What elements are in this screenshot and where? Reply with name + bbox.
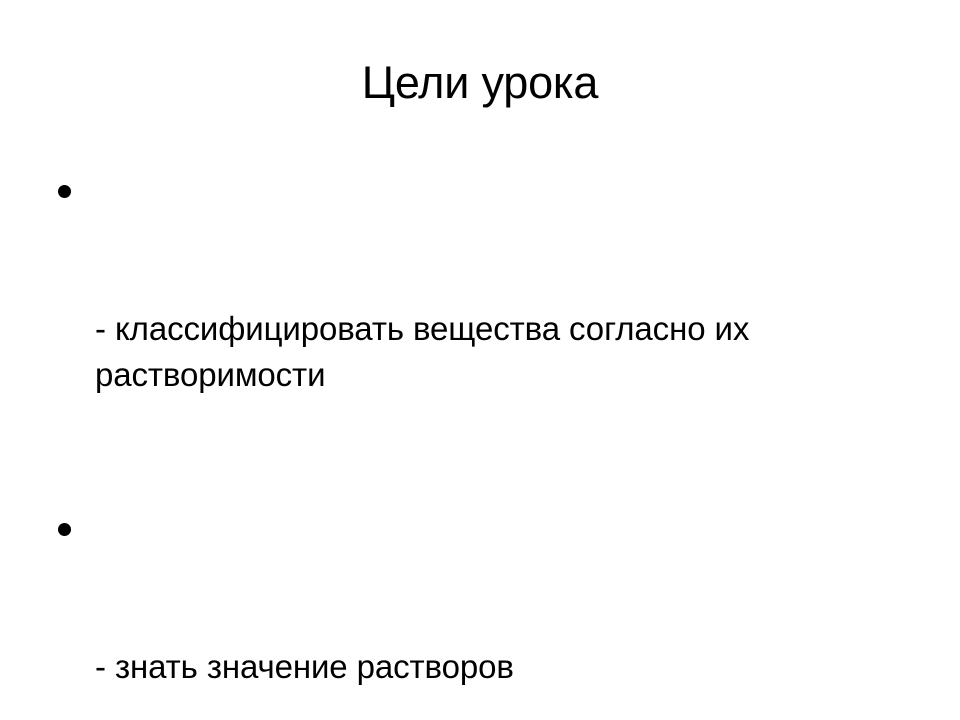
list-item[interactable]: - классифицировать вещества согласно их … [52,168,908,490]
list-item-label: - знать значение растворов [95,644,908,690]
bullet-dot-icon [58,185,71,198]
list-item[interactable]: - знать значение растворов [52,506,908,720]
bullet-list: - классифицировать вещества согласно их … [52,168,908,720]
page-title: Цели урока [0,58,960,108]
list-item-label: - классифицировать вещества согласно их … [95,306,908,398]
bullet-dot-icon [58,523,71,536]
slide-canvas: Цели урока - классифицировать вещества с… [0,0,960,720]
